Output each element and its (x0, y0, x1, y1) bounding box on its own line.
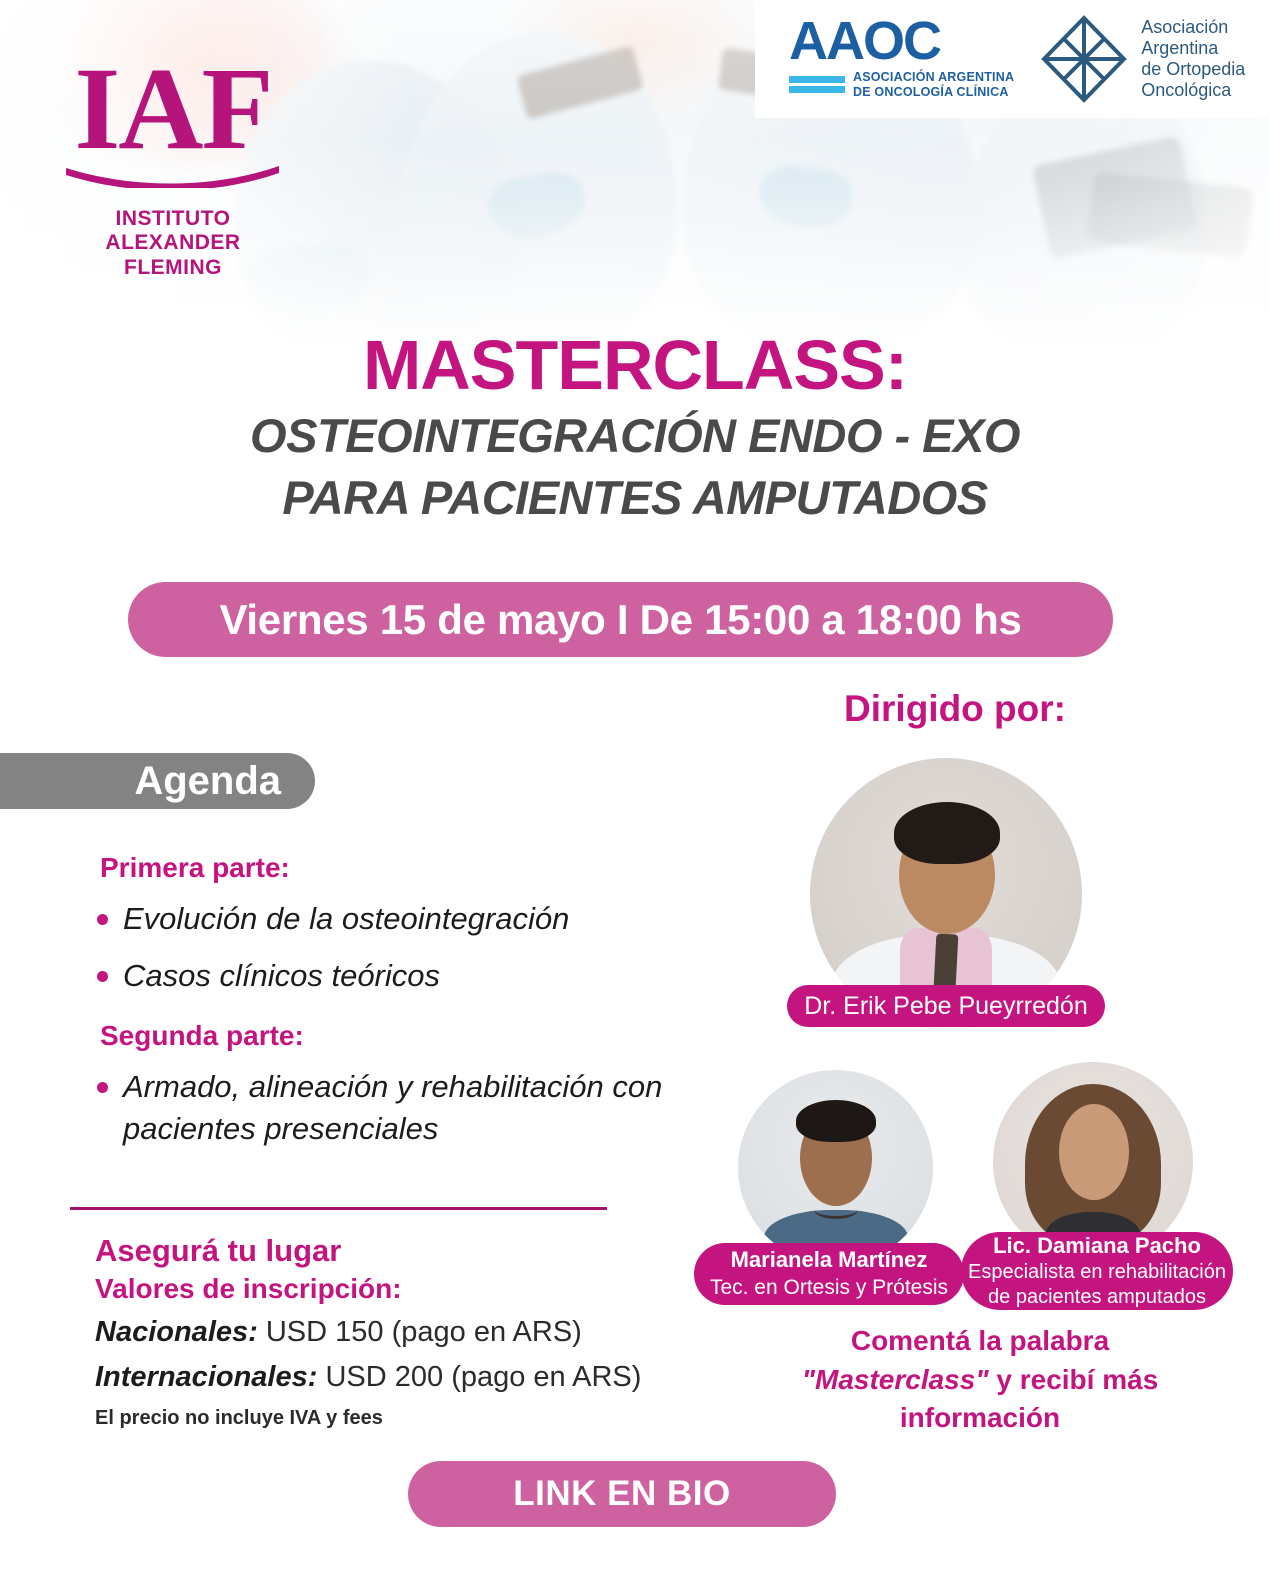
pricing-national-label: Nacionales: (95, 1316, 258, 1348)
speaker-main-name-badge: Dr. Erik Pebe Pueyrredón (787, 985, 1105, 1027)
pricing-row-national: Nacionales: USD 150 (pago en ARS) (95, 1313, 715, 1352)
avatar (738, 1070, 933, 1265)
pricing-national-value: USD 150 (pago en ARS) (266, 1316, 582, 1348)
pricing-heading: Asegurá tu lugar (95, 1233, 715, 1269)
necklace (814, 1200, 858, 1219)
aaoc-logo: AAOC ASOCIACIÓN ARGENTINA DE ONCOLOGÍA C… (789, 18, 1014, 100)
aaoc-fullname-line1: ASOCIACIÓN ARGENTINA (853, 70, 1014, 84)
argentina-flag-icon (789, 76, 845, 93)
face-shape (1059, 1104, 1129, 1200)
pricing-row-international: Internacionales: USD 200 (pago en ARS) (95, 1358, 715, 1397)
list-item: Armado, alineación y rehabilitación con … (95, 1066, 695, 1152)
pricing-note: El precio no incluye IVA y fees (95, 1407, 715, 1430)
agenda-second-part-label: Segunda parte: (100, 1020, 695, 1052)
list-item: Evolución de la osteointegración (95, 898, 695, 941)
comment-cta-line1: Comentá la palabra (775, 1322, 1185, 1361)
speaker-secondary-2-badge: Lic. Damiana Pacho Especialista en rehab… (961, 1232, 1233, 1310)
section-divider (70, 1207, 607, 1210)
speaker-secondary-1-role: Tec. en Ortesis y Prótesis (710, 1275, 948, 1302)
speaker-secondary-1-badge: Marianela Martínez Tec. en Ortesis y Pró… (694, 1243, 964, 1305)
speaker-secondary-2-role-line2: de pacientes amputados (988, 1285, 1206, 1310)
aao-logo: Asociación Argentina de Ortopedia Oncoló… (1040, 14, 1245, 104)
link-en-bio-button[interactable]: LINK EN BIO (408, 1461, 836, 1527)
aao-line2: Argentina (1141, 38, 1245, 59)
agenda-content: Primera parte: Evolución de la osteointe… (95, 852, 695, 1165)
agenda-second-part-list: Armado, alineación y rehabilitación con … (95, 1066, 695, 1152)
iaf-logo-subtitle: INSTITUTO ALEXANDER FLEMING (48, 207, 298, 281)
partner-logos-plate: AAOC ASOCIACIÓN ARGENTINA DE ONCOLOGÍA C… (755, 0, 1270, 118)
aaoc-fullname: ASOCIACIÓN ARGENTINA DE ONCOLOGÍA CLÍNIC… (853, 70, 1014, 101)
list-item: Casos clínicos teóricos (95, 955, 695, 998)
iaf-swoosh-icon (66, 166, 281, 188)
iaf-logo: IAF INSTITUTO ALEXANDER FLEMING (48, 55, 298, 281)
speaker-secondary-2-role-line1: Especialista en rehabilitación (968, 1260, 1226, 1285)
agenda-pill-label: Agenda (0, 753, 315, 809)
page-subtitle-line1: OSTEOINTEGRACIÓN ENDO - EXO (0, 405, 1270, 467)
page-subtitle-line2: PARA PACIENTES AMPUTADOS (0, 467, 1270, 529)
agenda-first-part-label: Primera parte: (100, 852, 695, 884)
aao-line3: de Ortopedia (1141, 59, 1245, 80)
aaoc-fullname-line2: DE ONCOLOGÍA CLÍNICA (853, 85, 1009, 99)
hair-shape (796, 1100, 876, 1142)
speaker-secondary-2-name: Lic. Damiana Pacho (993, 1232, 1201, 1260)
comment-cta-line3: información (775, 1399, 1185, 1438)
hair-shape (894, 802, 1000, 864)
iaf-sub-line1: INSTITUTO (48, 207, 298, 232)
speaker-secondary-1-name: Marianela Martínez (731, 1246, 928, 1274)
comment-cta: Comentá la palabra "Masterclass" y recib… (775, 1322, 1185, 1438)
aao-diamond-icon (1040, 14, 1128, 104)
aao-fullname: Asociación Argentina de Ortopedia Oncoló… (1141, 17, 1245, 102)
comment-cta-line2-rest: y recibí más (989, 1364, 1159, 1395)
iaf-sub-line3: FLEMING (48, 256, 298, 281)
speakers-heading: Dirigido por: (790, 688, 1120, 730)
pricing-international-label: Internacionales: (95, 1361, 317, 1393)
poster-root: IAF INSTITUTO ALEXANDER FLEMING AAOC ASO… (0, 0, 1270, 1594)
iaf-logo-letters: IAF (48, 55, 298, 164)
aao-line1: Asociación (1141, 17, 1245, 38)
aaoc-acronym: AAOC (789, 18, 940, 66)
date-time-banner: Viernes 15 de mayo I De 15:00 a 18:00 hs (128, 582, 1113, 657)
pricing-subheading: Valores de inscripción: (95, 1273, 715, 1305)
speaker-secondary-1 (738, 1070, 933, 1265)
pricing-international-value: USD 200 (pago en ARS) (325, 1361, 641, 1393)
aao-line4: Oncológica (1141, 80, 1245, 101)
page-title: MASTERCLASS: (0, 325, 1270, 405)
agenda-first-part-list: Evolución de la osteointegración Casos c… (95, 898, 695, 998)
iaf-sub-line2: ALEXANDER (48, 231, 298, 256)
page-subtitle: OSTEOINTEGRACIÓN ENDO - EXO PARA PACIENT… (0, 405, 1270, 529)
comment-cta-keyword: "Masterclass" (802, 1364, 989, 1395)
pricing-block: Asegurá tu lugar Valores de inscripción:… (95, 1233, 715, 1430)
comment-cta-line2: "Masterclass" y recibí más (775, 1361, 1185, 1400)
